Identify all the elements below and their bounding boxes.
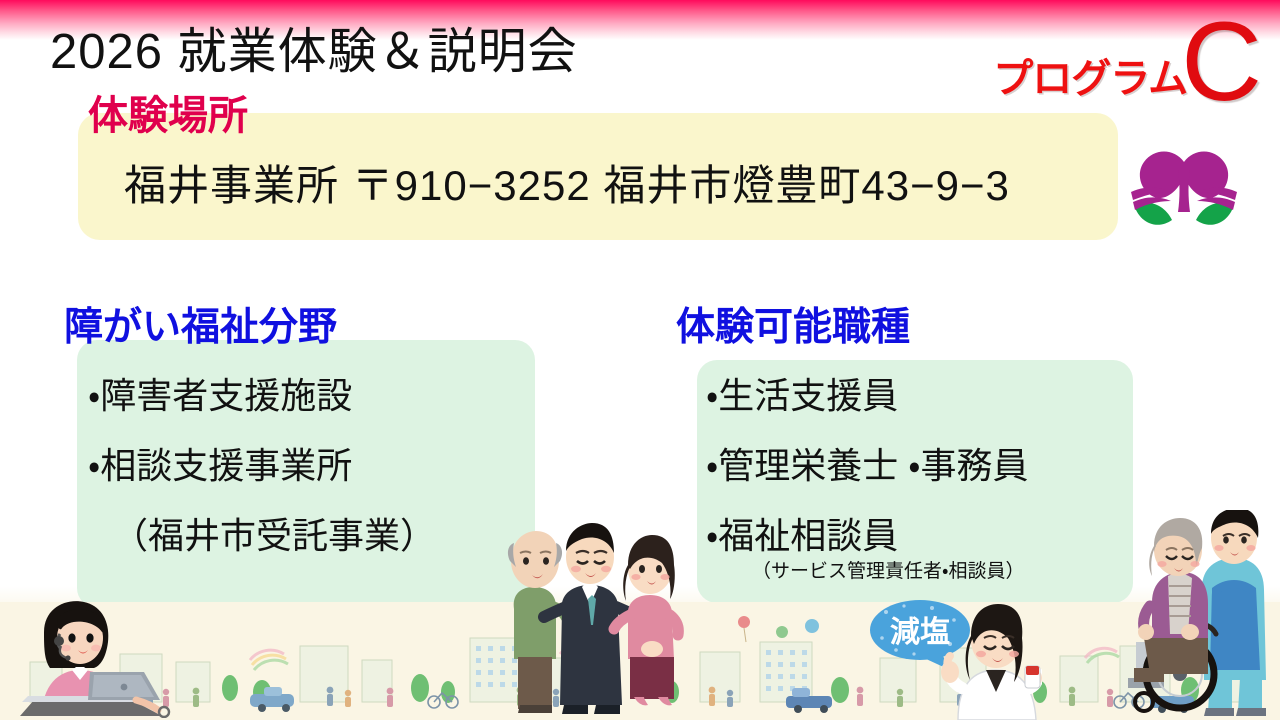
dietitian-illustration: 減塩 xyxy=(862,592,1042,720)
wheelchair-care-illustration xyxy=(1124,510,1280,718)
venue-label: 体験場所 xyxy=(88,96,248,136)
list-item: ・生活支援員 xyxy=(706,378,898,414)
list-item: （福井市受託事業） xyxy=(112,518,436,554)
section-heading-job-types: 体験可能職種 xyxy=(676,308,910,347)
page-title: 2026 就業体験＆説明会 xyxy=(50,28,578,77)
list-item: ・管理栄養士 ・事務員 xyxy=(706,448,1028,484)
program-letter: C xyxy=(1181,18,1262,105)
speech-bubble-icon: 減塩 xyxy=(870,600,970,670)
speech-bubble-text: 減塩 xyxy=(890,616,950,649)
venue-address-text: 福井事業所 〒910−3252 福井市燈豊町43−9−3 xyxy=(124,165,1010,207)
program-label: プログラム xyxy=(993,59,1187,99)
corporate-logo-icon xyxy=(1128,142,1240,242)
poster-canvas: 2026 就業体験＆説明会 プログラム C 体験場所 福井事業所 〒910−32… xyxy=(0,0,1280,720)
family-group-illustration xyxy=(504,509,684,714)
job-types-note: （サービス管理責任者・相談員） xyxy=(752,562,1024,581)
operator-woman-illustration xyxy=(14,588,184,718)
program-badge: プログラム C xyxy=(993,18,1262,105)
section-heading-welfare-field: 障がい福祉分野 xyxy=(64,308,337,347)
list-item: ・障害者支援施設 xyxy=(88,378,352,414)
list-item: ・相談支援事業所 xyxy=(88,448,352,484)
list-item: ・福祉相談員 xyxy=(706,518,898,554)
